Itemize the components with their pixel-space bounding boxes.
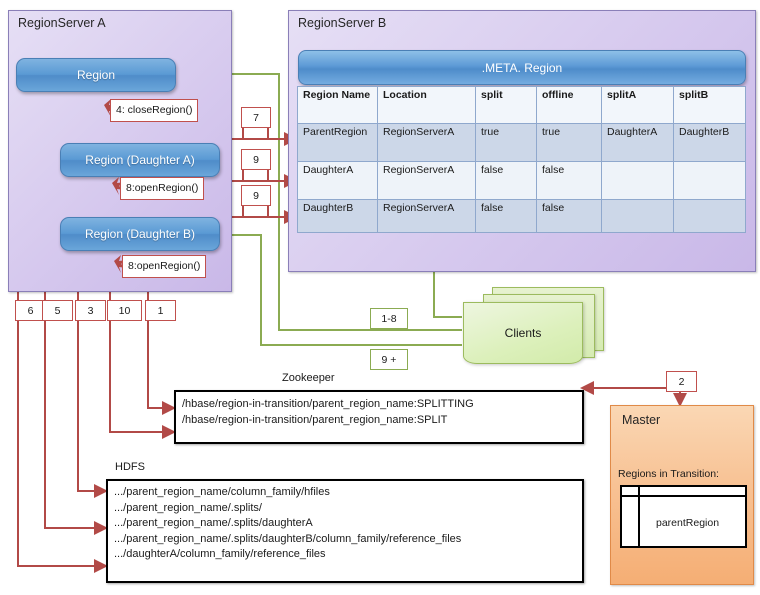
cell-splitb [674,200,746,233]
callout-close-region: 4: closeRegion() [110,99,198,122]
cell-region-name: ParentRegion [298,124,378,162]
rit-entry-parent-region: parentRegion [656,517,719,529]
cell-splitb: DaughterB [674,124,746,162]
step-label-to-meta-9b: 9 [241,185,271,206]
hdfs-line-1: .../parent_region_name/column_family/hfi… [108,485,582,501]
hdfs-box: .../parent_region_name/column_family/hfi… [106,479,584,583]
cell-location: RegionServerA [378,200,476,233]
zookeeper-box: /hbase/region-in-transition/parent_regio… [174,390,584,444]
meta-region-header: .META. Region [298,50,746,85]
cell-splita [602,200,674,233]
step-label-master-2: 2 [666,371,697,392]
region-parent-box[interactable]: Region [16,58,176,92]
zookeeper-line-splitting: /hbase/region-in-transition/parent_regio… [176,397,582,413]
region-server-b-title: RegionServer B [298,16,386,30]
region-server-a-title: RegionServer A [18,16,106,30]
regions-in-transition-table: parentRegion [620,485,747,548]
meta-region-table: Region Name Location split offline split… [297,86,746,233]
col-offline: offline [537,87,602,124]
client-step-label-9-plus: 9 + [370,349,408,370]
table-header-row: Region Name Location split offline split… [298,87,746,124]
callout-open-region-a: 8:openRegion() [120,177,204,200]
zookeeper-caption: Zookeeper [282,372,335,384]
col-splitb: splitB [674,87,746,124]
hdfs-line-4: .../parent_region_name/.splits/daughterB… [108,532,582,548]
table-row: DaughterB RegionServerA false false [298,200,746,233]
cell-splita: DaughterA [602,124,674,162]
step-label-rail-1: 1 [145,300,176,321]
clients-node[interactable]: Clients [463,302,583,364]
cell-splita [602,162,674,200]
col-region-name: Region Name [298,87,378,124]
step-label-rail-5: 5 [42,300,73,321]
cell-offline: false [537,200,602,233]
cell-location: RegionServerA [378,162,476,200]
cell-region-name: DaughterB [298,200,378,233]
hdfs-caption: HDFS [115,461,145,473]
step-label-to-meta-7: 7 [241,107,271,128]
rit-header-divider [622,487,745,497]
hdfs-line-2: .../parent_region_name/.splits/ [108,501,582,517]
col-split: split [476,87,537,124]
hdfs-line-5: .../daughterA/column_family/reference_fi… [108,547,582,563]
region-daughter-b-box[interactable]: Region (Daughter B) [60,217,220,251]
cell-split: false [476,162,537,200]
hdfs-line-3: .../parent_region_name/.splits/daughterA [108,516,582,532]
client-step-label-1-8: 1-8 [370,308,408,329]
cell-offline: false [537,162,602,200]
cell-region-name: DaughterA [298,162,378,200]
master-title: Master [622,413,660,427]
diagram-canvas: RegionServer A Region Region (Daughter A… [0,0,760,595]
step-label-rail-10: 10 [107,300,142,321]
col-location: Location [378,87,476,124]
cell-splitb [674,162,746,200]
zookeeper-line-split: /hbase/region-in-transition/parent_regio… [176,413,582,429]
step-label-rail-3: 3 [75,300,106,321]
regions-in-transition-label: Regions in Transition: [618,468,719,480]
callout-open-region-b: 8:openRegion() [122,255,206,278]
rit-column-divider [638,487,640,546]
region-daughter-a-box[interactable]: Region (Daughter A) [60,143,220,177]
cell-split: true [476,124,537,162]
cell-offline: true [537,124,602,162]
col-splita: splitA [602,87,674,124]
table-row: ParentRegion RegionServerA true true Dau… [298,124,746,162]
cell-location: RegionServerA [378,124,476,162]
cell-split: false [476,200,537,233]
step-label-to-meta-9a: 9 [241,149,271,170]
table-row: DaughterA RegionServerA false false [298,162,746,200]
